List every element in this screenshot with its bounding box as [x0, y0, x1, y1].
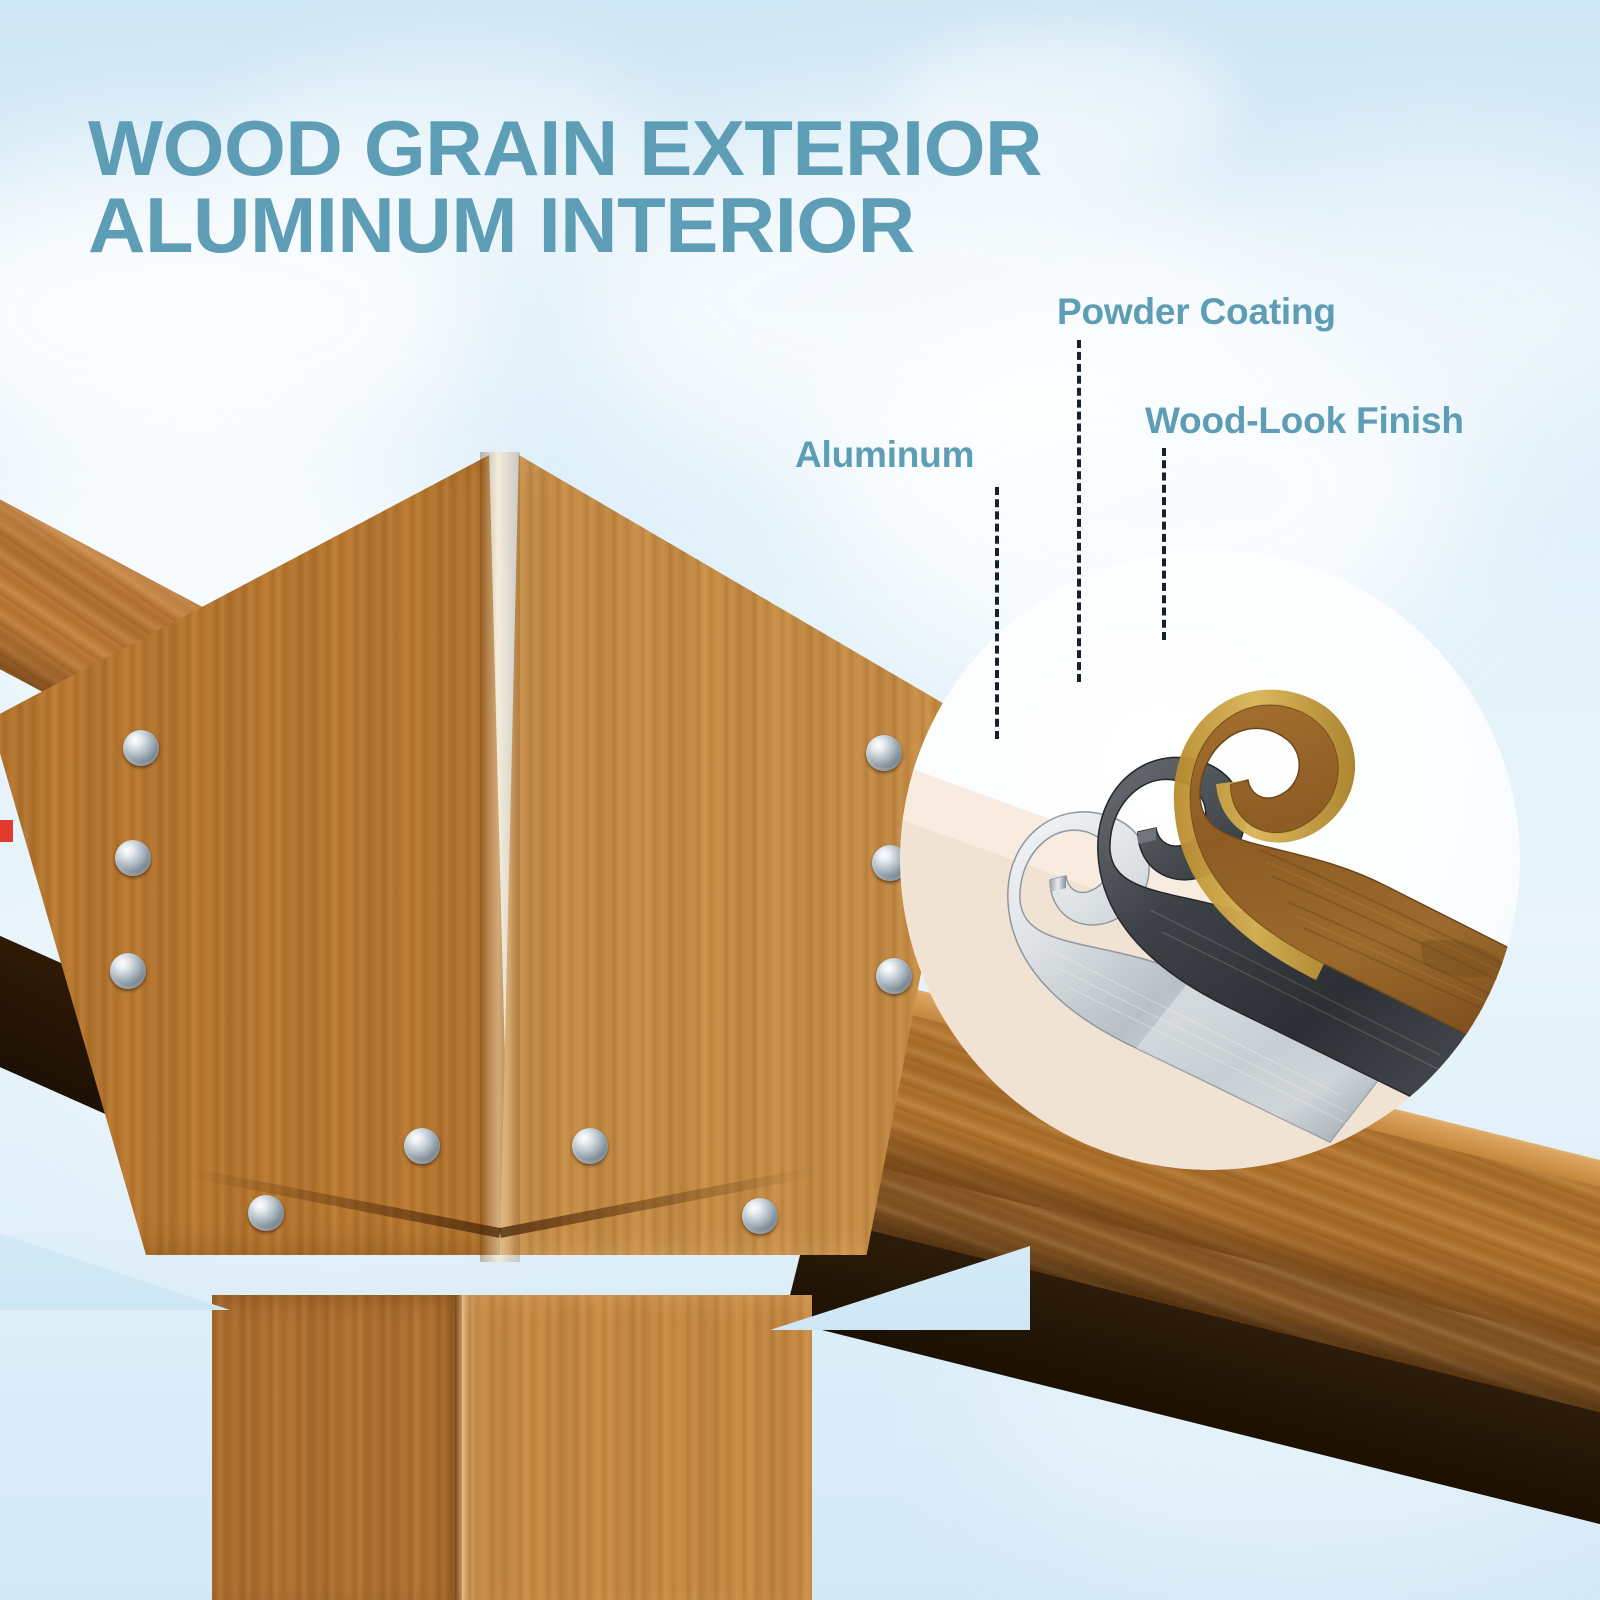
leader-line-wood-look: [1162, 448, 1166, 640]
callout-label-powder-coating: Powder Coating: [1057, 291, 1336, 333]
leader-line-powder-coating: [1077, 340, 1081, 682]
center-post-right-face: [462, 1295, 812, 1600]
bracket-apex-ridge: [480, 452, 520, 1262]
callout-label-wood-look: Wood-Look Finish: [1145, 400, 1464, 442]
screw: [742, 1198, 778, 1234]
product-feature-graphic: WOOD GRAIN EXTERIOR ALUMINUM INTERIOR: [0, 0, 1600, 1600]
center-post-left-face: [212, 1295, 462, 1600]
leader-line-aluminum: [995, 487, 999, 739]
screw: [866, 735, 902, 771]
screw: [123, 730, 159, 766]
screw: [572, 1128, 608, 1164]
screw: [110, 953, 146, 989]
screw: [115, 840, 151, 876]
material-cutaway-magnifier: [900, 550, 1520, 1170]
center-post-edge: [455, 1295, 471, 1600]
screw: [248, 1195, 284, 1231]
red-edge-mark: [0, 820, 13, 842]
callout-label-aluminum: Aluminum: [795, 434, 974, 476]
cutaway-illustration: [900, 550, 1520, 1170]
screw: [404, 1128, 440, 1164]
